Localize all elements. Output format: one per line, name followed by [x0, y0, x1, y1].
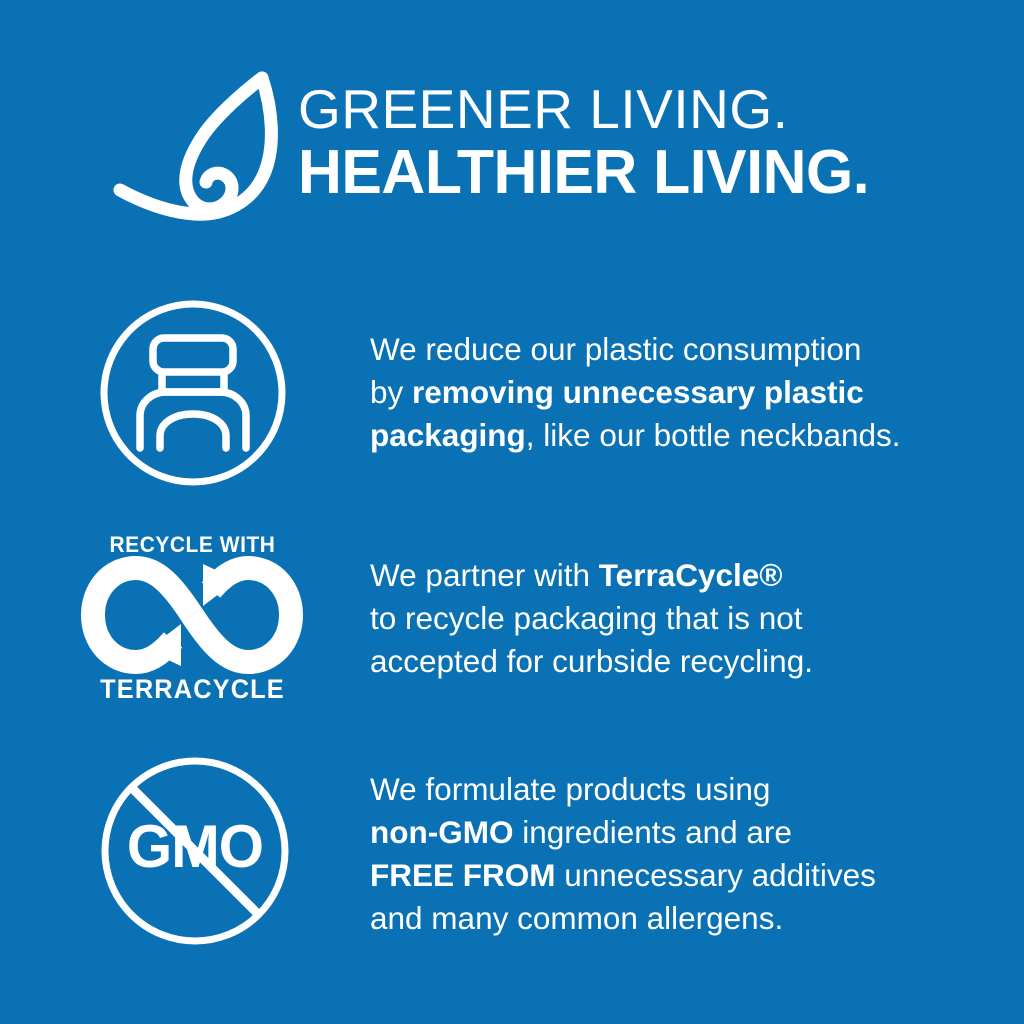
- leaf-logo-icon: [112, 72, 284, 232]
- terracycle-logo: RECYCLE WITH ® TERRACYCLE: [85, 530, 300, 710]
- benefit-row-terracycle: RECYCLE WITH ® TERRACYCLE We partner wit…: [0, 530, 1024, 715]
- text-line: We reduce our plastic consumption: [370, 328, 990, 371]
- registered-trademark-icon: ®: [281, 644, 289, 656]
- text-line: packaging, like our bottle neckbands.: [370, 414, 990, 457]
- benefit-text-terracycle: We partner with TerraCycle®to recycle pa…: [370, 554, 990, 683]
- text-line: accepted for curbside recycling.: [370, 640, 990, 683]
- text-line: to recycle packaging that is not: [370, 597, 990, 640]
- page-title: GREENER LIVING. HEALTHIER LIVING.: [298, 78, 998, 206]
- text-line: We formulate products using: [370, 768, 990, 811]
- text-line: non-GMO ingredients and are: [370, 811, 990, 854]
- headline-line-2: HEALTHIER LIVING.: [298, 140, 984, 206]
- terracycle-wordmark: TERRACYCLE: [91, 674, 293, 705]
- no-gmo-icon: GMO: [95, 752, 295, 950]
- text-line: FREE FROM unnecessary additives: [370, 854, 990, 897]
- gmo-label: GMO: [98, 812, 292, 881]
- terracycle-top-label: RECYCLE WITH: [93, 532, 293, 558]
- poster-root: GREENER LIVING. HEALTHIER LIVING. We red…: [0, 0, 1024, 1024]
- text-line: by removing unnecessary plastic: [370, 371, 990, 414]
- text-line: We partner with TerraCycle®: [370, 554, 990, 597]
- benefit-text-gmo: We formulate products usingnon-GMO ingre…: [370, 768, 990, 940]
- benefit-row-gmo: GMO We formulate products usingnon-GMO i…: [0, 752, 1024, 957]
- text-line: and many common allergens.: [370, 897, 990, 940]
- header: GREENER LIVING. HEALTHIER LIVING.: [0, 0, 1024, 250]
- benefit-text-plastic: We reduce our plastic consumptionby remo…: [370, 328, 990, 457]
- headline-line-1: GREENER LIVING.: [298, 78, 998, 140]
- benefit-row-plastic: We reduce our plastic consumptionby remo…: [0, 296, 1024, 496]
- terracycle-infinity-icon: [85, 560, 300, 670]
- bottle-neckband-icon: [98, 296, 288, 490]
